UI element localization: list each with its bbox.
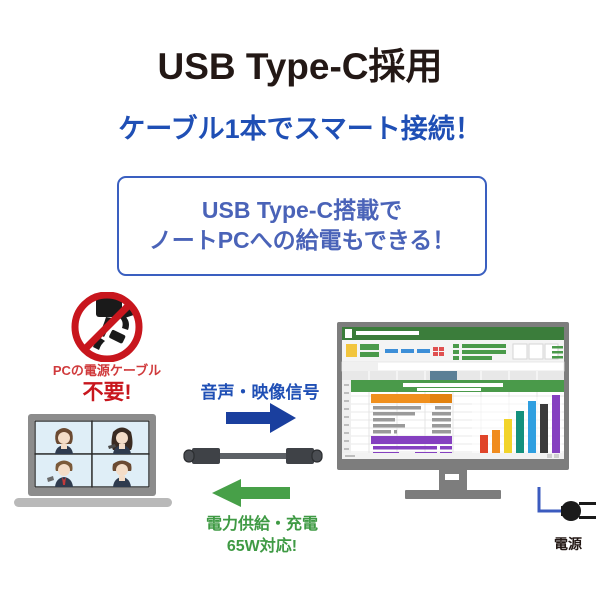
power-label-line-2: 65W対応! xyxy=(182,532,342,556)
arrow-left-icon xyxy=(212,479,290,507)
desktop-monitor-spreadsheet xyxy=(337,322,587,507)
power-plug-icon xyxy=(535,487,600,532)
no-cable-label-big: 不要! xyxy=(32,376,182,406)
feature-callout-box: USB Type-C搭載で ノートPCへの給電もできる！ xyxy=(117,176,487,276)
arrow-right-icon xyxy=(226,403,296,433)
power-plug-label: 電源 xyxy=(540,534,596,554)
avatar xyxy=(55,428,73,454)
callout-line-1: USB Type-C搭載で xyxy=(202,196,402,226)
bar-chart xyxy=(472,395,563,455)
usb-type-c-cable xyxy=(178,443,328,469)
no-power-cable-block: PCの電源ケーブル 不要! xyxy=(32,292,182,407)
callout-line-2: ノートPCへの給電もできる！ xyxy=(149,226,456,256)
power-label-line-1: 電力供給・充電 xyxy=(182,510,342,534)
av-signal-label: 音声・映像信号 xyxy=(185,378,335,403)
page-subtitle: ケーブル1本でスマート接続！ xyxy=(0,107,600,146)
page-title: USB Type-C採用 xyxy=(0,36,600,90)
marketing-graphic: USB Type-C採用 ケーブル1本でスマート接続！ USB Type-C搭載… xyxy=(0,0,600,600)
laptop-video-conference xyxy=(14,414,184,514)
no-power-adapter-icon xyxy=(54,292,160,362)
